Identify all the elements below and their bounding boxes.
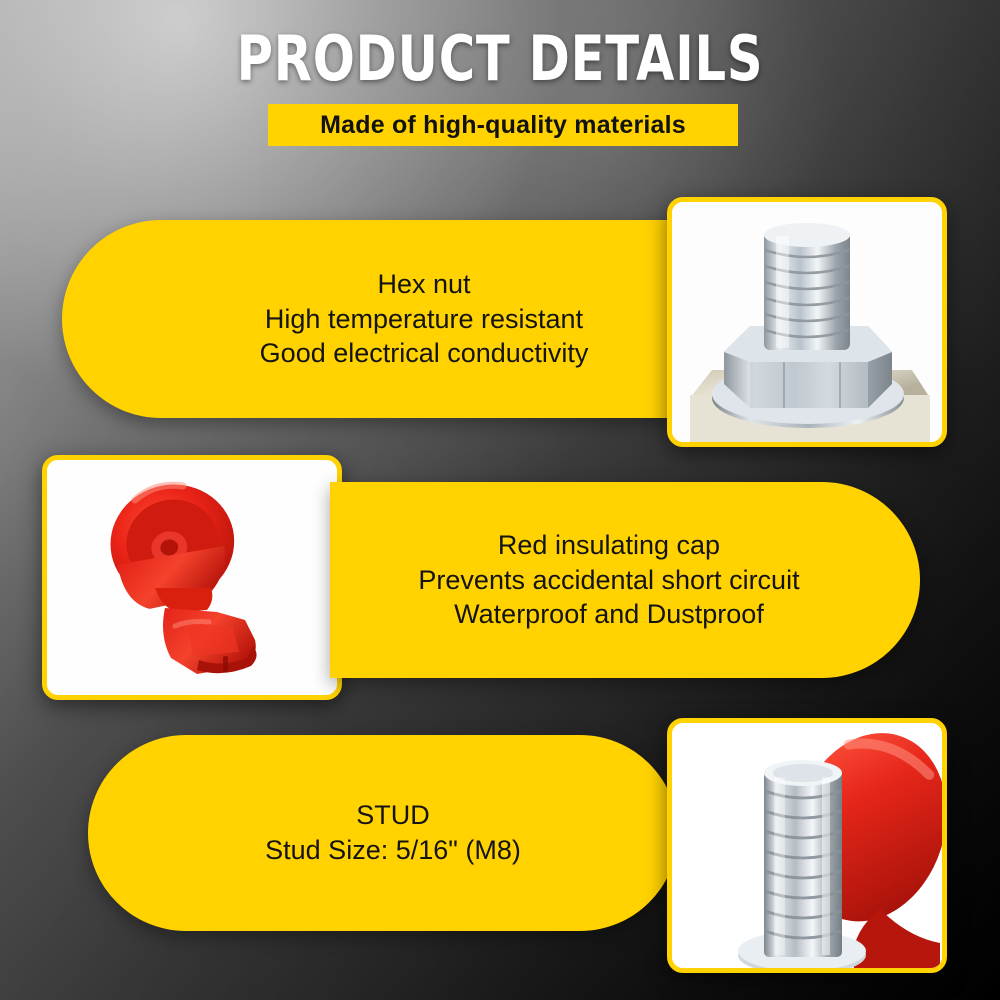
red-cap-illustration	[47, 460, 337, 695]
page-title: PRODUCT DETAILS	[100, 28, 900, 90]
red-cap-photo	[42, 455, 342, 700]
subtitle-banner: Made of high-quality materials	[268, 104, 738, 146]
hex-nut-illustration	[672, 202, 942, 442]
subtitle-text: Made of high-quality materials	[320, 111, 686, 140]
hex-nut-photo	[667, 197, 947, 447]
feature-text-stud: STUD Stud Size: 5/16" (M8)	[88, 798, 678, 867]
product-details-infographic: PRODUCT DETAILS Made of high-quality mat…	[0, 0, 1000, 1000]
feature-pill-hex-nut: Hex nut High temperature resistant Good …	[62, 220, 672, 418]
feature-pill-red-cap: Red insulating cap Prevents accidental s…	[330, 482, 920, 678]
feature-text-hex-nut: Hex nut High temperature resistant Good …	[62, 267, 672, 371]
stud-photo	[667, 718, 947, 973]
feature-pill-stud: STUD Stud Size: 5/16" (M8)	[88, 735, 678, 931]
feature-text-red-cap: Red insulating cap Prevents accidental s…	[330, 528, 920, 632]
stud-illustration	[672, 723, 942, 968]
